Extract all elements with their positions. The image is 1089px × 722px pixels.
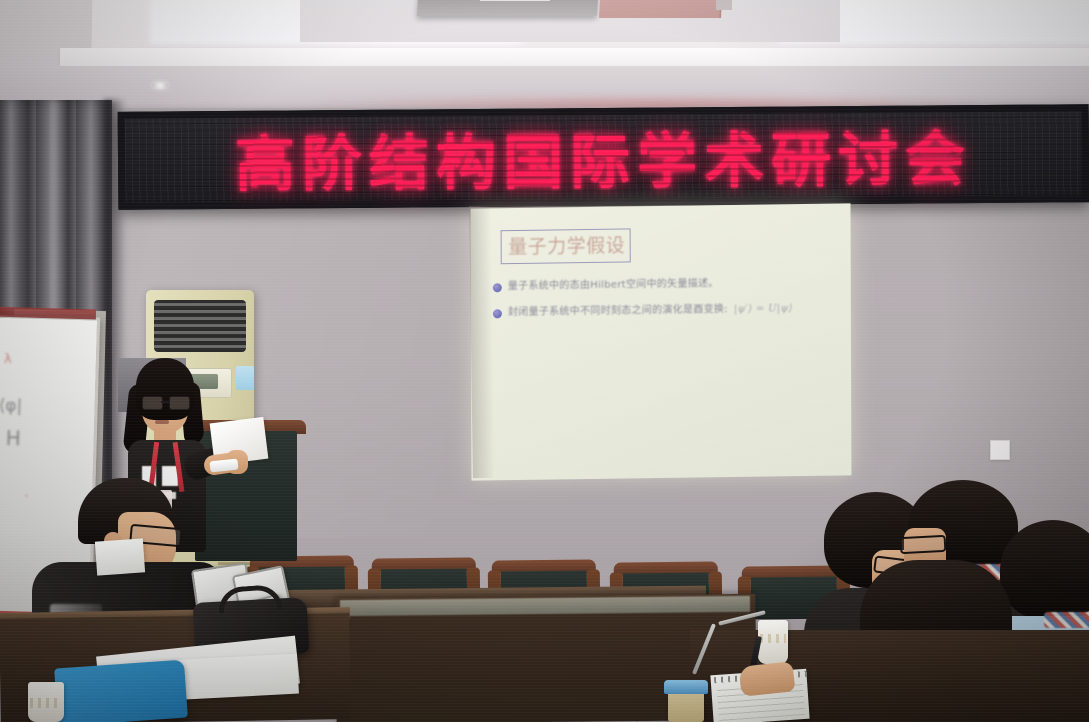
air-conditioner-badge <box>236 366 254 390</box>
bullet-dot-icon <box>493 309 502 318</box>
bullet-dot-icon <box>493 283 502 292</box>
tea-jar-lid[interactable] <box>664 680 708 694</box>
wall-outlet <box>990 440 1010 460</box>
projected-slide: 量子力学假设 量子系统中的态由Hilbert空间中的矢量描述。 封闭量子系统中不… <box>471 203 852 480</box>
slide-bullet-1: 量子系统中的态由Hilbert空间中的矢量描述。 <box>493 277 719 293</box>
presenter-glasses-icon <box>142 396 188 408</box>
whiteboard-mark: H <box>5 426 21 450</box>
whiteboard-mark: λ <box>4 352 12 367</box>
audience-2-glasses-icon <box>900 535 947 554</box>
writing-hand <box>739 661 796 696</box>
ceiling-mounted-box-small <box>716 0 732 10</box>
white-papers-back[interactable] <box>95 538 145 575</box>
slide-title: 量子力学假设 <box>505 231 629 261</box>
led-banner-text: 高阶结构国际学术研讨会 <box>125 110 1083 205</box>
whiteboard-mark: ⟨φ| <box>0 396 23 417</box>
ceiling-mounted-box <box>599 0 723 18</box>
presenter-hair <box>136 358 194 420</box>
ceiling <box>0 0 1089 118</box>
audience-3-collar <box>1044 612 1089 628</box>
presenter-mouth <box>155 420 169 424</box>
paper-cup-pattern <box>760 634 786 643</box>
air-conditioner-grille <box>154 300 246 352</box>
glasses-lens <box>142 396 163 410</box>
conference-room-photo: 高阶结构国际学术研讨会 量子力学假设 量子系统中的态由Hilbert空间中的矢量… <box>0 0 1089 722</box>
projection-left-falloff <box>469 206 495 478</box>
slide-bullet-2-math: |ψ′⟩ = U|ψ⟩ <box>734 302 793 316</box>
slide-bullet-2: 封闭量子系统中不同时刻态之间的演化是酉变换: |ψ′⟩ = U|ψ⟩ <box>493 302 793 319</box>
led-banner: 高阶结构国际学术研讨会 <box>118 104 1089 210</box>
tea-jar[interactable] <box>668 690 704 722</box>
paper-cup-pattern <box>30 698 62 708</box>
slide-bullet-2-text: 封闭量子系统中不同时刻态之间的演化是酉变换: <box>508 303 728 319</box>
blue-conference-bag[interactable] <box>54 660 188 722</box>
ceiling-projector <box>417 0 599 16</box>
glasses-bridge <box>161 401 169 403</box>
slide-bullet-1-text: 量子系统中的态由Hilbert空间中的矢量描述。 <box>508 277 719 293</box>
projector-stripe <box>480 0 550 1</box>
glasses-lens <box>169 396 190 410</box>
downlight-icon <box>152 82 168 89</box>
